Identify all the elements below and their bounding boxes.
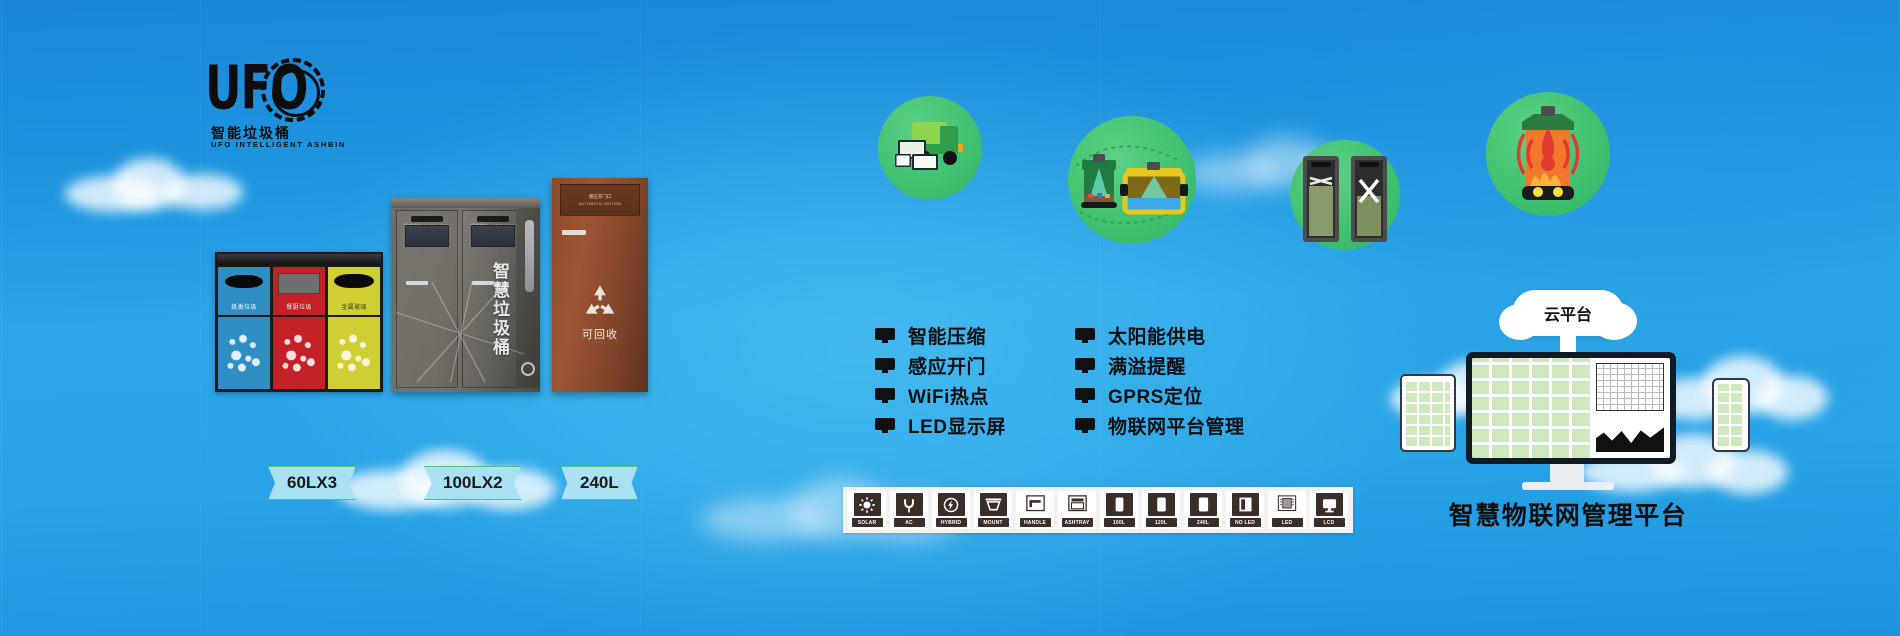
feature-label: 满溢提醒 (1108, 352, 1186, 379)
led-icon (1274, 493, 1301, 516)
wall-mount-icon (980, 493, 1007, 516)
bin-display-panel (278, 273, 320, 294)
bin-lid (217, 254, 381, 265)
feature-item: 太阳能供电 (1075, 320, 1245, 350)
bin-cell-label: 纸类垃圾 (218, 302, 270, 311)
line-chart-graphic (1596, 363, 1664, 411)
deposit-slot-icon (225, 275, 263, 288)
monitor-base (1522, 482, 1614, 490)
tablet-map-view (1406, 380, 1450, 446)
logo-english-name: UFO INTELLIGENT ASHBIN (211, 140, 346, 149)
spec-item-100l[interactable]: 100L (1100, 491, 1138, 529)
waste-illustration (225, 331, 263, 376)
feature-label: WiFi热点 (908, 382, 989, 409)
feature-item: WiFi热点 (875, 380, 1006, 410)
panel-line-1: 感应开门口 (561, 194, 639, 200)
bin-cell-label: 餐厨垃圾 (273, 302, 325, 311)
bin-100l-icon (1106, 493, 1133, 516)
bg-stripe (200, 0, 201, 636)
spec-label: SOLAR (852, 518, 883, 527)
bin-side-window (525, 220, 534, 292)
spec-item-no-led[interactable]: NO LED (1226, 491, 1264, 529)
feature-item: 感应开门 (875, 350, 1006, 380)
feature-label: 物联网平台管理 (1108, 412, 1245, 439)
feature-column-right: 太阳能供电 满溢提醒 GPRS定位 物联网平台管理 (1075, 320, 1245, 440)
spec-item-120l[interactable]: 120L (1142, 491, 1180, 529)
product-double-bin: 智能感应 AUTOMATIC MOTION 智能感应 AUTOMATIC MOT… (392, 198, 540, 392)
brand-logo: UFO 智能垃圾桶 UFO INTELLIGENT ASHBIN (205, 57, 325, 152)
monitor-icon (875, 388, 895, 403)
spec-item-240l[interactable]: 240L (1184, 491, 1222, 529)
spec-label: 100L (1104, 518, 1135, 527)
bin-roof (392, 198, 540, 208)
map-dashboard-pane (1472, 358, 1589, 458)
iot-platform-illustration: 云平台 (1400, 290, 1750, 510)
monitor-icon (1075, 418, 1095, 433)
spec-label: NO LED (1230, 518, 1261, 527)
spec-label: HYBRID (936, 518, 967, 527)
caption-240l: 240L (561, 466, 638, 500)
feature-label: GPRS定位 (1108, 382, 1203, 409)
bg-stripe (1, 0, 2, 636)
lcd-icon (1316, 493, 1343, 516)
feature-circle-compaction (1290, 140, 1400, 250)
bin-top-panel: 感应开门口 AUTOMATIC MOTION (560, 184, 640, 216)
product-triple-bin: 纸类垃圾 餐厨垃圾 金属玻璃 (215, 252, 383, 392)
bin-shell: 感应开门口 AUTOMATIC MOTION 可回收 (552, 178, 648, 392)
bin-cell-body (218, 317, 270, 389)
cloud-platform-label: 云平台 (1544, 301, 1592, 325)
sun-icon (854, 493, 881, 516)
fill-level-sensor-icon (1068, 116, 1196, 244)
spec-item-mount[interactable]: MOUNT (974, 491, 1012, 529)
spec-item-ashtray[interactable]: ASHTRAY (1058, 491, 1096, 529)
feature-circle-fire-alarm (1486, 92, 1610, 216)
fleet-management-icon (878, 96, 982, 200)
feature-circle-fill-level (1068, 116, 1196, 244)
panel-line-2: AUTOMATIC MOTION (561, 202, 639, 206)
bin-frame: 纸类垃圾 餐厨垃圾 金属玻璃 (215, 252, 383, 392)
spec-label: 240L (1188, 518, 1219, 527)
ashtray-icon (1064, 493, 1091, 516)
feature-label: 太阳能供电 (1108, 322, 1206, 349)
recycle-icon (579, 282, 621, 322)
cloud-decoration (55, 150, 255, 220)
chart-dashboard-pane (1589, 358, 1670, 458)
bin-cell-top: 纸类垃圾 (218, 267, 270, 315)
spec-icon-strip: SOLAR AC HYBRID MOUNT HANDLE (843, 487, 1353, 533)
monitor-icon (875, 418, 895, 433)
waste-illustration (280, 331, 318, 376)
bg-stripe (1100, 0, 1101, 636)
feature-label: 智能压缩 (908, 322, 986, 349)
spec-label: AC (894, 518, 925, 527)
platform-title: 智慧物联网管理平台 (1398, 496, 1738, 532)
spec-label: 120L (1146, 518, 1177, 527)
spec-label: HANDLE (1020, 518, 1051, 527)
monitor-icon (875, 358, 895, 373)
feature-item: 物联网平台管理 (1075, 410, 1245, 440)
monitor-icon (875, 328, 895, 343)
gear-ring-icon (261, 58, 325, 122)
product-brown-bin: 感应开门口 AUTOMATIC MOTION 可回收 (552, 178, 648, 392)
desktop-monitor (1466, 352, 1676, 464)
feature-item: 满溢提醒 (1075, 350, 1245, 380)
bin-cell-top: 餐厨垃圾 (273, 267, 325, 315)
bin-cell-metal-glass: 金属玻璃 (328, 267, 380, 389)
monitor-screen (1472, 358, 1670, 458)
bin-vertical-label: 智慧垃圾桶 (487, 262, 512, 357)
cloud-platform-badge: 云平台 (1512, 290, 1624, 336)
spec-item-lcd[interactable]: LCD (1310, 491, 1348, 529)
spec-label: MOUNT (978, 518, 1009, 527)
recycle-label: 可回收 (552, 326, 648, 342)
spec-item-led[interactable]: LED (1268, 491, 1306, 529)
feature-item: LED显示屏 (875, 410, 1006, 440)
tablet-device (1400, 374, 1456, 452)
feature-item: GPRS定位 (1075, 380, 1245, 410)
area-chart-graphic (1596, 422, 1664, 452)
feature-column-left: 智能压缩 感应开门 WiFi热点 LED显示屏 (875, 320, 1006, 440)
handle-icon (1022, 493, 1049, 516)
lightning-circle-icon (938, 493, 965, 516)
feature-label: LED显示屏 (908, 412, 1006, 439)
phone-map-view (1718, 384, 1744, 446)
spec-item-solar[interactable]: SOLAR (848, 491, 886, 529)
monitor-stand (1550, 464, 1584, 484)
caption-100lx2: 100LX2 (424, 466, 522, 500)
bin-cell-paper: 纸类垃圾 (218, 267, 270, 389)
smartphone-device (1712, 378, 1750, 452)
bin-shell: 智能感应 AUTOMATIC MOTION 智能感应 AUTOMATIC MOT… (392, 198, 540, 392)
bin-cell-body (273, 317, 325, 389)
no-led-icon (1232, 493, 1259, 516)
bin-120l-icon (1148, 493, 1175, 516)
poster-canvas: UFO 智能垃圾桶 UFO INTELLIGENT ASHBIN 纸类垃圾 餐厨… (0, 0, 1900, 636)
led-strip-icon (477, 216, 509, 222)
bg-stripe (1898, 0, 1899, 636)
spec-label: LCD (1314, 518, 1345, 527)
bin-cell-kitchen: 餐厨垃圾 (273, 267, 325, 389)
spec-item-hybrid[interactable]: HYBRID (932, 491, 970, 529)
monitor-icon (1075, 328, 1095, 343)
monitor-icon (1075, 358, 1095, 373)
spec-item-handle[interactable]: HANDLE (1016, 491, 1054, 529)
bin-cell-body (328, 317, 380, 389)
brand-mark-icon (521, 362, 535, 376)
bin-display-panel (471, 225, 515, 247)
bin-240l-icon (1190, 493, 1217, 516)
waste-illustration (335, 331, 373, 376)
fire-alarm-icon (1486, 92, 1610, 216)
led-strip-icon (411, 216, 443, 222)
compaction-bin-icon (1290, 140, 1400, 250)
spec-item-ac[interactable]: AC (890, 491, 928, 529)
bin-cell-label: 金属玻璃 (328, 302, 380, 311)
feature-circle-fleet-management (878, 96, 982, 200)
bin-display-panel (405, 225, 449, 247)
bin-cell-top: 金属玻璃 (328, 267, 380, 315)
feature-label: 感应开门 (908, 352, 986, 379)
spec-label: LED (1272, 518, 1303, 527)
caption-60lx3: 60LX3 (268, 466, 356, 500)
card-reader-icon (562, 230, 586, 235)
deposit-slot-icon (334, 274, 374, 288)
feature-item: 智能压缩 (875, 320, 1006, 350)
monitor-icon (1075, 388, 1095, 403)
spec-label: ASHTRAY (1062, 518, 1093, 527)
plug-icon (896, 493, 923, 516)
